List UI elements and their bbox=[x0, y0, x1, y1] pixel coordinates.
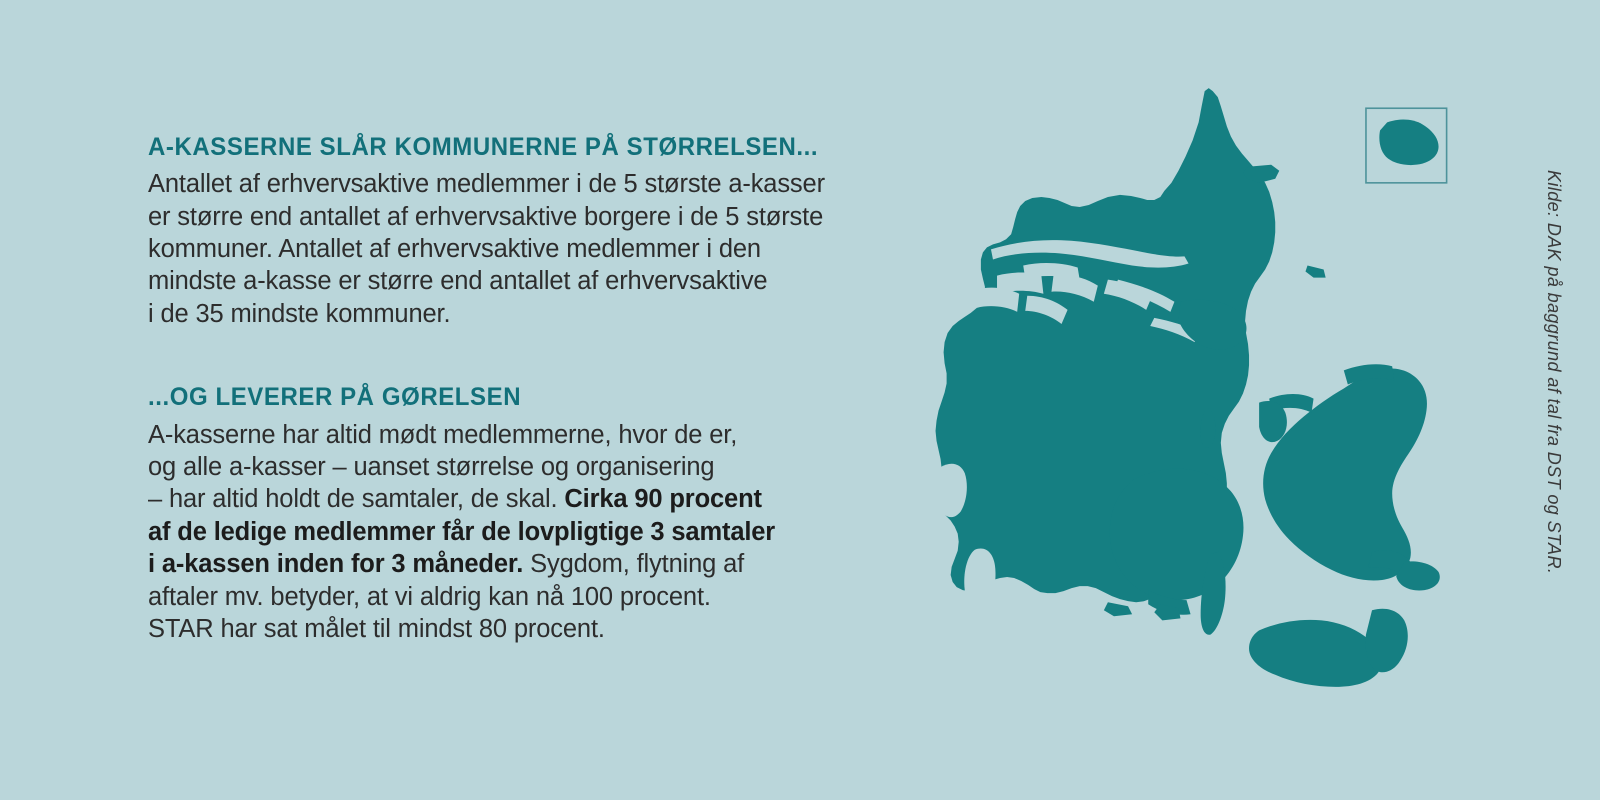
region-falster bbox=[1365, 609, 1407, 673]
text-block-1: A-KASSERNE SLÅR KOMMUNERNE PÅ STØRRELSEN… bbox=[148, 132, 908, 330]
source-credit: Kilde: DAK på baggrund af tal fra DST og… bbox=[1543, 170, 1564, 574]
map-landmasses bbox=[936, 88, 1447, 687]
block-2-body: A-kasserne har altid mødt medlemmerne, h… bbox=[148, 419, 908, 646]
body-line: Antallet af erhvervsaktive medlemmer i d… bbox=[148, 170, 825, 198]
block-1-body: Antallet af erhvervsaktive medlemmer i d… bbox=[148, 168, 908, 330]
body-segment: A-kasserne har altid mødt medlemmerne, h… bbox=[148, 421, 737, 449]
island-bornholm bbox=[1379, 120, 1438, 166]
island-aeroe bbox=[1104, 602, 1132, 616]
body-segment-bold: Cirka 90 procent bbox=[564, 485, 761, 513]
block-1-heading: A-KASSERNE SLÅR KOMMUNERNE PÅ STØRRELSEN… bbox=[148, 132, 878, 163]
body-segment: aftaler mv. betyder, at vi aldrig kan nå… bbox=[148, 583, 711, 611]
body-segment: STAR har sat målet til mindst 80 procent… bbox=[148, 615, 605, 643]
body-segment-bold: af de ledige medlemmer får de lovpligtig… bbox=[148, 518, 775, 546]
infographic-poster: A-KASSERNE SLÅR KOMMUNERNE PÅ STØRRELSEN… bbox=[0, 0, 1600, 800]
region-lolland bbox=[1249, 620, 1381, 687]
text-block-2: ...OG LEVERER PÅ GØRELSEN A-kasserne har… bbox=[148, 382, 908, 645]
island-anholt bbox=[1305, 266, 1325, 278]
body-segment-bold: i a-kassen inden for 3 måneder. bbox=[148, 550, 523, 578]
body-line: kommuner. Antallet af erhvervsaktive med… bbox=[148, 235, 761, 263]
island-moen bbox=[1396, 561, 1440, 590]
body-line: i de 35 mindste kommuner. bbox=[148, 300, 450, 328]
body-segment: – har altid holdt de samtaler, de skal. bbox=[148, 485, 564, 513]
body-segment: Sygdom, flytning af bbox=[523, 550, 744, 578]
block-2-heading: ...OG LEVERER PÅ GØRELSEN bbox=[148, 382, 878, 413]
body-line: mindste a-kasse er større end antallet a… bbox=[148, 267, 767, 295]
denmark-map bbox=[895, 78, 1470, 703]
denmark-map-svg bbox=[895, 78, 1470, 703]
text-column: A-KASSERNE SLÅR KOMMUNERNE PÅ STØRRELSEN… bbox=[148, 132, 908, 645]
body-segment: og alle a-kasser – uanset størrelse og o… bbox=[148, 453, 714, 481]
body-line: er større end antallet af erhvervsaktive… bbox=[148, 203, 823, 231]
